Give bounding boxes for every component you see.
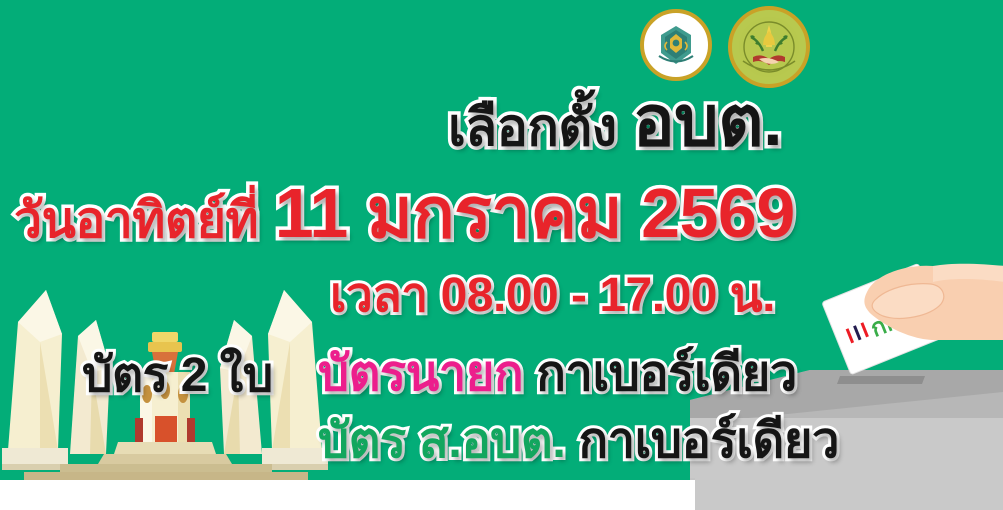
seal-ect-thailand	[640, 9, 712, 81]
ballot-mayor-label: บัตรนายก	[318, 347, 523, 401]
seal-local-administration	[728, 6, 810, 88]
hand-casting-ballot: กกต	[815, 248, 1003, 388]
ballot-mayor-instruction: กาเบอร์เดียว	[536, 347, 797, 401]
date-prefix: วันอาทิตย์ที่	[14, 192, 258, 248]
date-value: 11 มกราคม 2569	[275, 174, 795, 252]
election-poster: กกต เลือกตั้ง อบต. วันอาทิตย์ที่ 11 มกรา…	[0, 0, 1003, 510]
headline-word-1: เลือกตั้ง	[448, 99, 617, 157]
official-seals	[640, 6, 815, 86]
time-line: เวลา 08.00 - 17.00 น.	[330, 268, 775, 324]
ballot-member-label: บัตร ส.อบต.	[318, 414, 565, 468]
headline: เลือกตั้ง อบต.	[448, 86, 782, 163]
ballot-member-instruction: กาเบอร์เดียว	[578, 414, 839, 468]
ballot-box-foot	[695, 478, 1003, 510]
ballot-count-label: บัตร 2 ใบ	[82, 348, 273, 404]
ballot-mayor-line: บัตรนายก กาเบอร์เดียว	[318, 345, 797, 403]
ballot-member-line: บัตร ส.อบต. กาเบอร์เดียว	[318, 412, 839, 470]
date-line: วันอาทิตย์ที่ 11 มกราคม 2569	[14, 176, 795, 257]
headline-word-2: อบต.	[633, 82, 782, 160]
